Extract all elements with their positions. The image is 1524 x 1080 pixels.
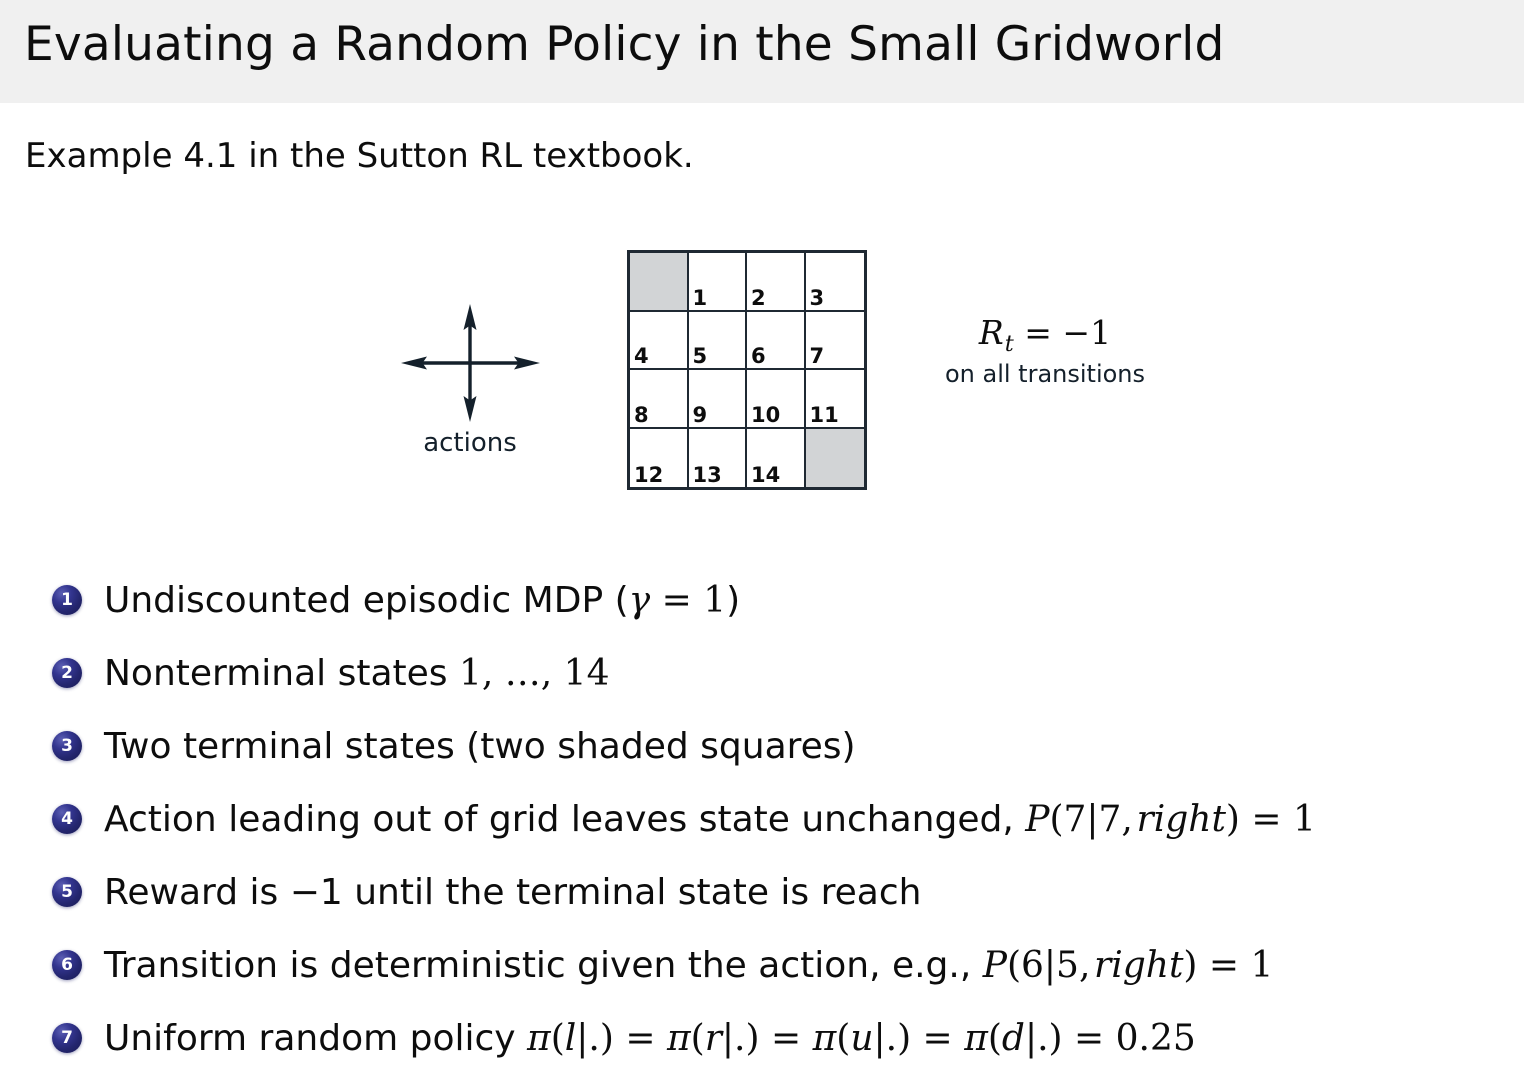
bullet-marker: 3 — [52, 731, 82, 761]
grid-cell: 5 — [689, 312, 748, 371]
grid-cell-label: 12 — [634, 465, 663, 486]
four-way-arrow-cross-icon — [395, 300, 545, 425]
actions-diagram: actions — [395, 300, 545, 460]
list-item-text: Undiscounted episodic MDP (γ = 1) — [104, 568, 1512, 634]
page-title: Evaluating a Random Policy in the Small … — [24, 17, 1225, 72]
grid-cell-label: 5 — [693, 346, 708, 367]
list-item: 6 Transition is deterministic given the … — [52, 933, 1512, 1006]
list-item: 1 Undiscounted episodic MDP (γ = 1) — [52, 568, 1512, 641]
grid-cell: 12 — [630, 429, 689, 488]
actions-label: actions — [395, 428, 545, 458]
grid-cell — [806, 429, 865, 488]
reward-formula: Rt = −1 — [905, 315, 1185, 356]
grid-cell: 1 — [689, 253, 748, 312]
grid-cell: 11 — [806, 370, 865, 429]
list-item: 4 Action leading out of grid leaves stat… — [52, 787, 1512, 860]
grid-cell-label: 10 — [751, 405, 780, 426]
grid-cell-label: 14 — [751, 465, 780, 486]
bullet-marker: 7 — [52, 1023, 82, 1053]
list-item: 3 Two terminal states (two shaded square… — [52, 714, 1512, 787]
grid-cell-label: 9 — [693, 405, 708, 426]
grid-cell: 6 — [747, 312, 806, 371]
reward-note: Rt = −1 on all transitions — [905, 315, 1185, 388]
grid-cell: 14 — [747, 429, 806, 488]
grid-cell-label: 13 — [693, 465, 722, 486]
bullet-marker: 4 — [52, 804, 82, 834]
gridworld-figure: actions 1 2 3 4 5 6 7 8 9 10 11 12 13 14… — [0, 230, 1524, 520]
grid-cell: 8 — [630, 370, 689, 429]
bullet-marker: 2 — [52, 658, 82, 688]
gridworld-grid: 1 2 3 4 5 6 7 8 9 10 11 12 13 14 — [627, 250, 867, 490]
grid-cell-label: 1 — [693, 288, 708, 309]
grid-cell: 7 — [806, 312, 865, 371]
grid-cell: 10 — [747, 370, 806, 429]
bullet-marker: 6 — [52, 950, 82, 980]
list-item-text: Two terminal states (two shaded squares) — [104, 714, 1512, 780]
list-item-text: Uniform random policy π(l|.) = π(r|.) = … — [104, 1006, 1512, 1072]
reward-formula-variable: R — [979, 313, 1004, 352]
grid-cell-label: 2 — [751, 288, 766, 309]
list-item-text: Action leading out of grid leaves state … — [104, 787, 1512, 853]
list-item-text: Transition is deterministic given the ac… — [104, 933, 1512, 999]
bullet-marker: 1 — [52, 585, 82, 615]
list-item-text: Nonterminal states 1, …, 14 — [104, 641, 1512, 707]
grid-cell: 3 — [806, 253, 865, 312]
grid-cell-label: 3 — [810, 288, 825, 309]
list-item: 5 Reward is −1 until the terminal state … — [52, 860, 1512, 933]
grid-cell — [630, 253, 689, 312]
grid-cell-label: 7 — [810, 346, 825, 367]
list-item: 2 Nonterminal states 1, …, 14 — [52, 641, 1512, 714]
intro-text: Example 4.1 in the Sutton RL textbook. — [25, 136, 694, 176]
reward-formula-subscript: t — [1005, 331, 1014, 357]
grid-cell: 9 — [689, 370, 748, 429]
points-list: 1 Undiscounted episodic MDP (γ = 1) 2 No… — [52, 568, 1512, 1079]
grid-cell: 2 — [747, 253, 806, 312]
grid-cell-label: 6 — [751, 346, 766, 367]
list-item-text: Reward is −1 until the terminal state is… — [104, 860, 1512, 926]
grid-cell: 13 — [689, 429, 748, 488]
grid-cell-label: 11 — [810, 405, 839, 426]
grid-cell-label: 4 — [634, 346, 649, 367]
list-item: 7 Uniform random policy π(l|.) = π(r|.) … — [52, 1006, 1512, 1079]
grid-cell-label: 8 — [634, 405, 649, 426]
reward-formula-value: = −1 — [1014, 313, 1111, 352]
grid-cell: 4 — [630, 312, 689, 371]
reward-caption: on all transitions — [905, 360, 1185, 388]
slide-title-band: Evaluating a Random Policy in the Small … — [0, 0, 1524, 103]
bullet-marker: 5 — [52, 877, 82, 907]
